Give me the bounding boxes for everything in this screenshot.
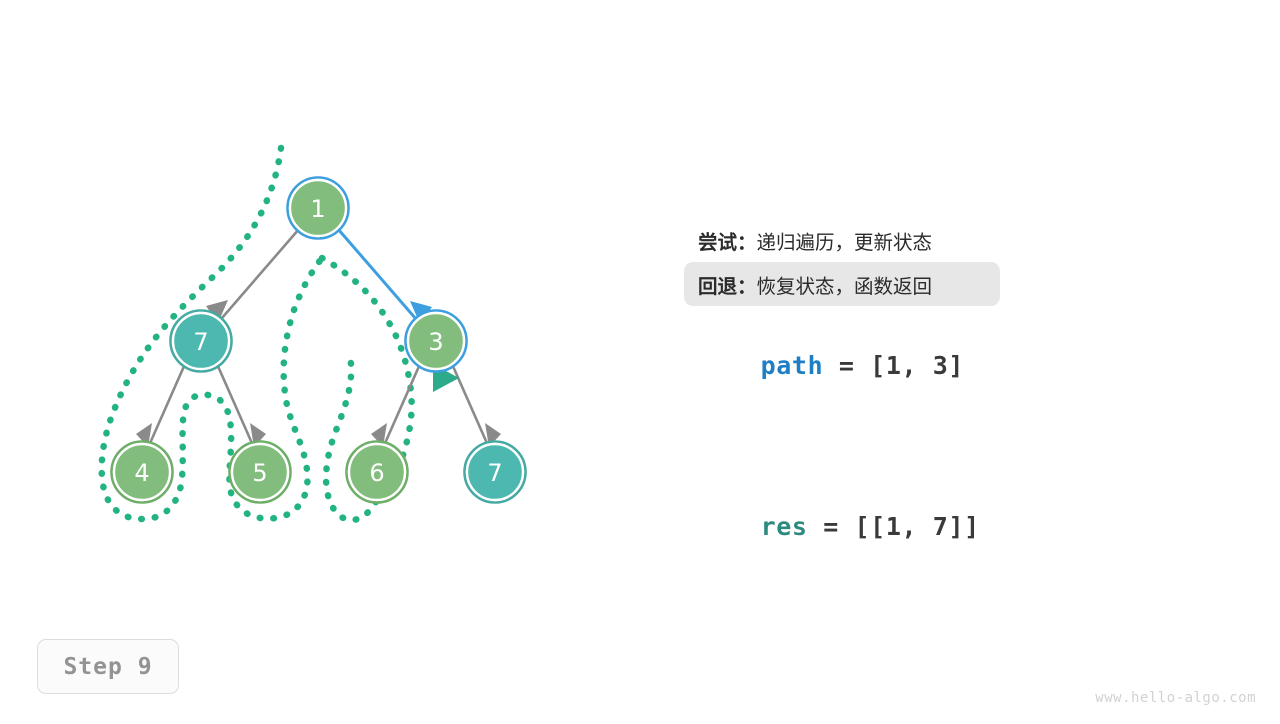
tree-nodes: 1 7 3 4 5 bbox=[112, 178, 526, 503]
tree-node-4-label: 4 bbox=[134, 459, 149, 487]
edge-1-7l bbox=[206, 229, 299, 323]
tree-node-7-left[interactable]: 7 bbox=[171, 311, 232, 372]
tree-node-5-label: 5 bbox=[252, 459, 267, 487]
tree-diagram: 1 7 3 4 5 bbox=[0, 0, 660, 720]
legend-row-try-value: 递归遍历，更新状态 bbox=[757, 226, 933, 255]
step-badge-label: Step 9 bbox=[63, 654, 152, 680]
edge-3-6 bbox=[371, 364, 420, 447]
path-variable-line: path = [1, 3] bbox=[698, 322, 1238, 409]
res-variable-name: res bbox=[761, 512, 808, 541]
tree-node-7-right-label: 7 bbox=[487, 459, 502, 487]
res-variable-line: res = [[1, 7]] bbox=[698, 483, 1238, 570]
tree-node-6[interactable]: 6 bbox=[347, 442, 408, 503]
tree-node-4[interactable]: 4 bbox=[112, 442, 173, 503]
watermark: www.hello-algo.com bbox=[1095, 690, 1256, 706]
tree-node-6-label: 6 bbox=[369, 459, 384, 487]
edge-7l-5 bbox=[217, 364, 266, 447]
legend-row-backtrack-value: 恢复状态，函数返回 bbox=[757, 270, 933, 299]
legend-row-try-key: 尝试： bbox=[698, 226, 757, 255]
edge-1-3 bbox=[338, 229, 432, 324]
legend-row-backtrack: 回退： 恢复状态，函数返回 bbox=[684, 262, 1000, 306]
tree-node-5[interactable]: 5 bbox=[230, 442, 291, 503]
tree-node-1[interactable]: 1 bbox=[288, 178, 349, 239]
path-variable-value: = [1, 3] bbox=[823, 351, 964, 380]
edge-7l-4 bbox=[136, 364, 185, 447]
legend-row-try: 尝试： 递归遍历，更新状态 bbox=[684, 218, 1000, 262]
edge-3-7r bbox=[452, 364, 501, 447]
tree-node-7-right[interactable]: 7 bbox=[465, 442, 526, 503]
legend-row-backtrack-key: 回退： bbox=[698, 270, 757, 299]
path-variable-name: path bbox=[761, 351, 824, 380]
explanation-panel: 尝试： 递归遍历，更新状态 回退： 恢复状态，函数返回 path = [1, 3… bbox=[698, 218, 1238, 570]
res-variable-value: = [[1, 7]] bbox=[808, 512, 980, 541]
tree-node-3[interactable]: 3 bbox=[406, 311, 467, 372]
tree-node-7-left-label: 7 bbox=[193, 328, 208, 356]
tree-node-1-label: 1 bbox=[310, 195, 325, 223]
tree-node-3-label: 3 bbox=[428, 328, 443, 356]
step-badge: Step 9 bbox=[37, 639, 179, 694]
